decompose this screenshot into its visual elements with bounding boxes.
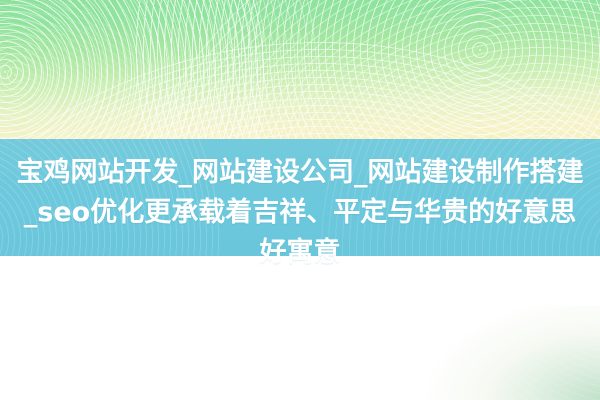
corner-accent-green (410, 305, 600, 400)
banner-graphic: 宝鸡网站开发_网站建设公司_网站建设制作搭建_seo优化更承载着吉祥、平定与华贵… (0, 0, 600, 400)
top-gradient-region (0, 0, 600, 139)
top-gradient-fill (0, 0, 600, 139)
banner-headline: 宝鸡网站开发_网站建设公司_网站建设制作搭建_seo优化更承载着吉祥、平定与华贵… (0, 139, 600, 273)
bottom-gradient-region (0, 256, 600, 400)
